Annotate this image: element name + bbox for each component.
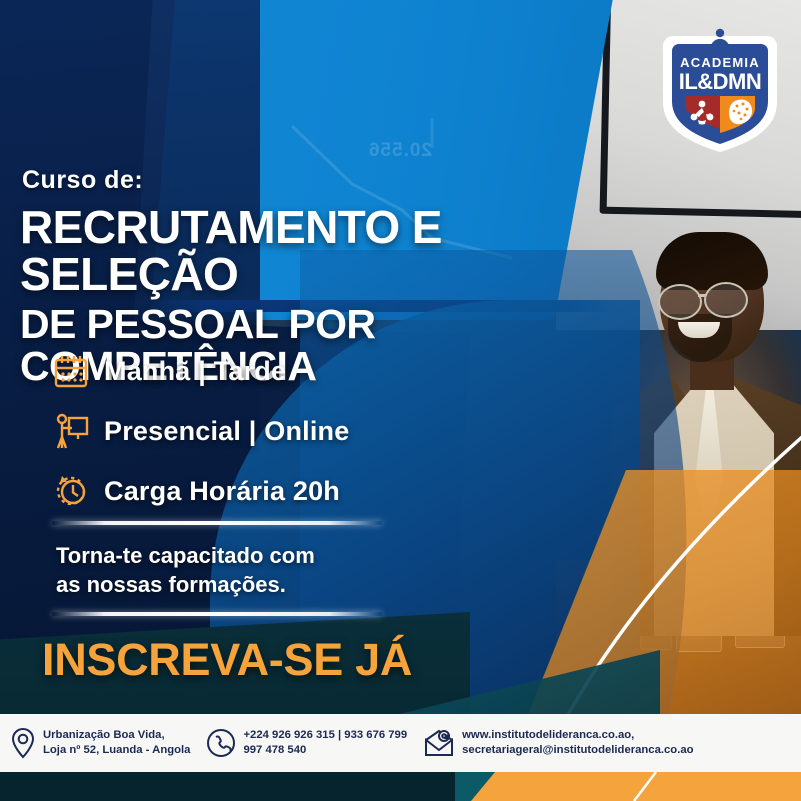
phone-line-2: 997 478 540 xyxy=(243,744,306,756)
clock-history-icon xyxy=(48,468,94,514)
footer-address-text: Urbanização Boa Vida, Loja nº 52, Luanda… xyxy=(43,728,190,758)
feature-item-duration: Carga Horária 20h xyxy=(48,464,448,518)
person-glasses-bridge xyxy=(698,294,706,297)
flyer-poster: 20.556 ACADEMIA IL&DMN xyxy=(0,0,801,801)
feature-label-duration: Carga Horária 20h xyxy=(104,476,340,507)
phone-icon xyxy=(206,728,236,758)
location-pin-icon xyxy=(10,727,36,759)
tagline-line-2: as nossas formações. xyxy=(56,570,315,599)
envelope-at-icon xyxy=(423,728,455,758)
divider-bottom xyxy=(52,612,382,616)
logo-academia-text: ACADEMIA xyxy=(680,55,760,70)
tagline: Torna-te capacitado com as nossas formaç… xyxy=(56,541,315,599)
course-kicker: Curso de: xyxy=(22,166,143,195)
address-line-2: Loja nº 52, Luanda - Angola xyxy=(43,744,190,756)
footer-web-text[interactable]: www.institutodelideranca.co.ao, secretar… xyxy=(462,728,693,758)
footer-contact-bar: Urbanização Boa Vida, Loja nº 52, Luanda… xyxy=(0,714,801,772)
person-glasses-right xyxy=(704,282,748,318)
bottom-strip-white-line xyxy=(626,772,666,801)
academia-logo: ACADEMIA IL&DMN xyxy=(655,14,785,154)
logo-figure-head xyxy=(716,29,724,37)
bottom-strip xyxy=(0,772,801,801)
feature-item-format: Presencial | Online xyxy=(48,404,448,458)
phone-line-1: +224 926 926 315 | 933 676 799 xyxy=(243,729,407,741)
footer-web: www.institutodelideranca.co.ao, secretar… xyxy=(423,728,693,758)
logo-ildmn-text: IL&DMN xyxy=(679,69,762,94)
feature-list: Manhã | Tarde Presencial | Online xyxy=(48,344,448,524)
website-url[interactable]: www.institutodelideranca.co.ao, xyxy=(462,729,634,741)
footer-phone: +224 926 926 315 | 933 676 799 997 478 5… xyxy=(206,728,407,758)
feature-label-format: Presencial | Online xyxy=(104,416,349,447)
person-glasses-left xyxy=(658,284,702,320)
ghost-chart-value: 20.556 xyxy=(232,140,432,210)
footer-phone-text: +224 926 926 315 | 933 676 799 997 478 5… xyxy=(243,728,407,758)
address-line-1: Urbanização Boa Vida, xyxy=(43,729,165,741)
tagline-line-1: Torna-te capacitado com xyxy=(56,541,315,570)
cta-label[interactable]: INSCREVA-SE JÁ xyxy=(42,634,412,686)
presenter-board-icon xyxy=(48,408,94,454)
person-hair xyxy=(656,232,768,290)
calendar-icon xyxy=(48,348,94,394)
email-address[interactable]: secretariageral@institutodelideranca.co.… xyxy=(462,744,693,756)
title-line-1: RECRUTAMENTO E SELEÇÃO xyxy=(20,201,442,300)
footer-address: Urbanização Boa Vida, Loja nº 52, Luanda… xyxy=(10,727,190,759)
divider-top xyxy=(52,521,382,525)
feature-item-schedule: Manhã | Tarde xyxy=(48,344,448,398)
feature-label-schedule: Manhã | Tarde xyxy=(104,356,286,387)
